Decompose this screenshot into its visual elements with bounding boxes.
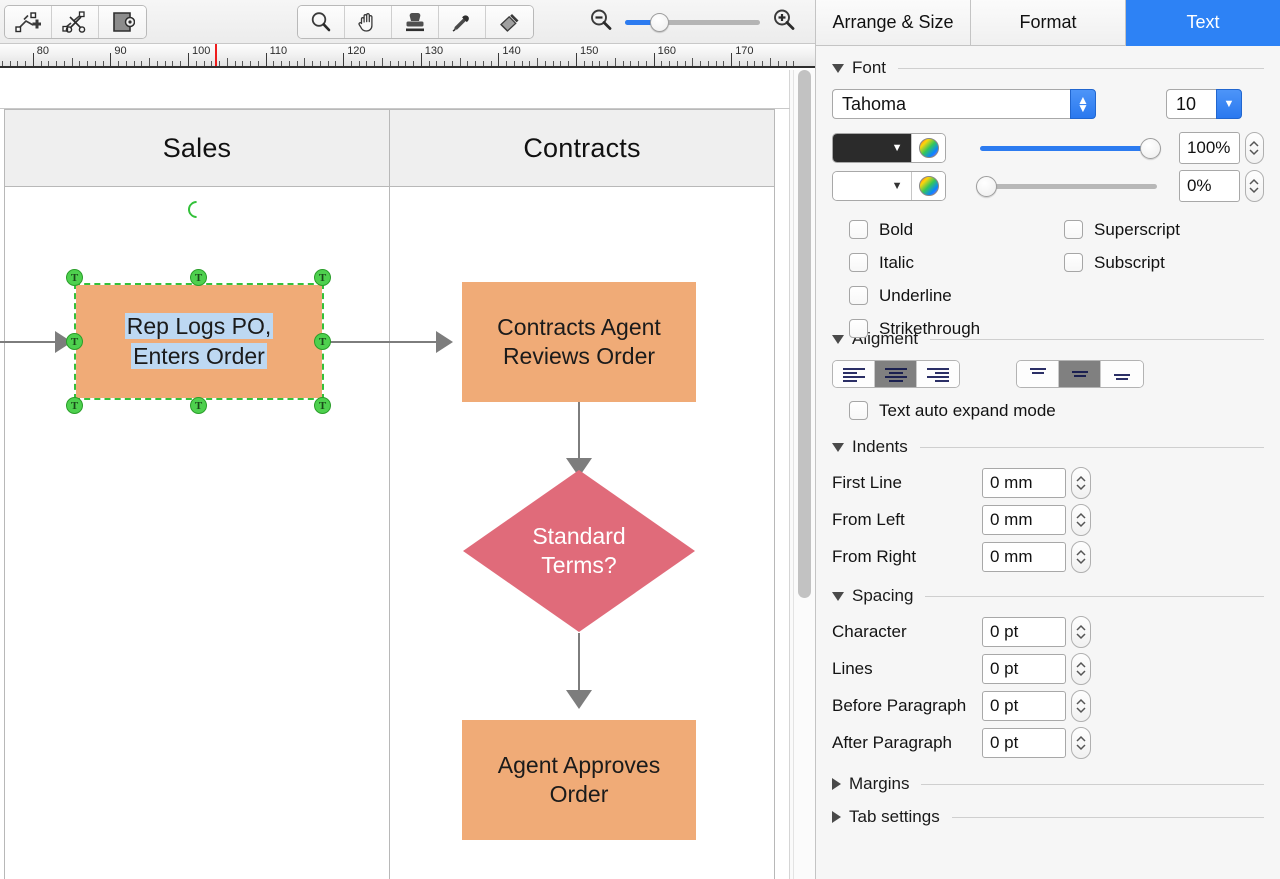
tab-format[interactable]: Format	[971, 0, 1126, 46]
align-right-icon[interactable]	[917, 361, 959, 387]
ruler-tick	[17, 61, 18, 66]
properties-panel: Arrange & Size Format Text Font Tahoma ▲…	[815, 0, 1280, 879]
section-title: Spacing	[852, 586, 913, 606]
fill-opacity-value[interactable]: 0%	[1179, 170, 1240, 202]
font-family-value: Tahoma	[832, 89, 1070, 119]
lane-header-sales[interactable]: Sales	[4, 109, 390, 187]
diagram-page[interactable]: Sales Contracts Rep Logs PO, Enters Orde…	[0, 70, 790, 879]
ruler-tick	[623, 61, 624, 66]
section-divider	[921, 784, 1264, 785]
ruler-tick	[273, 61, 274, 66]
ruler-tick	[266, 53, 267, 66]
font-size-select[interactable]: 10 ▼	[1166, 89, 1242, 119]
ruler-tick	[281, 61, 282, 66]
ruler-tick	[491, 61, 492, 66]
hand-icon[interactable]	[345, 6, 392, 38]
ruler-tick	[382, 58, 383, 66]
checkbox-box	[1064, 253, 1083, 272]
stamp-icon[interactable]	[392, 6, 439, 38]
ruler-tick	[204, 61, 205, 66]
ruler-tick	[475, 61, 476, 66]
chevron-down-icon	[832, 335, 844, 344]
node-label: Contracts Agent Reviews Order	[497, 313, 661, 372]
from-right-indent-stepper[interactable]	[1071, 541, 1091, 573]
fill-opacity-stepper[interactable]	[1245, 170, 1264, 202]
node-contracts-agent-reviews[interactable]: Contracts Agent Reviews Order	[462, 282, 696, 402]
ruler-tick	[700, 61, 701, 66]
ruler-tick	[638, 61, 639, 66]
app-window: 8090100110120130140150160170 Sales Contr…	[0, 0, 1280, 879]
tool-group	[297, 5, 534, 39]
ruler-tick	[235, 61, 236, 66]
field-row-first-line: First Line 0 mm	[816, 467, 1280, 499]
chevron-right-icon	[832, 778, 841, 790]
fill-color-picker[interactable]: ▼	[832, 171, 946, 201]
after-paragraph-stepper[interactable]	[1071, 727, 1091, 759]
chevron-right-icon	[832, 811, 841, 823]
magnifier-icon[interactable]	[298, 6, 345, 38]
ruler-tick	[716, 61, 717, 66]
checkbox-label: Underline	[879, 286, 952, 306]
ruler-tick	[196, 61, 197, 66]
ruler-tick	[312, 61, 313, 66]
shape-page-icon[interactable]	[99, 6, 146, 38]
zoom-slider[interactable]	[625, 20, 760, 25]
ruler-tick	[110, 53, 111, 66]
font-family-select[interactable]: Tahoma ▲▼	[832, 89, 1096, 119]
ruler-label: 90	[114, 45, 126, 57]
field-label: Lines	[832, 659, 982, 679]
ruler-tick	[335, 61, 336, 66]
ruler-label: 150	[580, 45, 598, 57]
checkbox-box	[1064, 220, 1083, 239]
from-right-indent-input[interactable]: 0 mm	[982, 542, 1066, 572]
field-label: From Left	[832, 510, 982, 530]
section-header-tab-settings[interactable]: Tab settings	[816, 804, 1280, 830]
section-divider	[925, 596, 1264, 597]
horizontal-ruler[interactable]: 8090100110120130140150160170	[0, 44, 815, 68]
field-label: After Paragraph	[832, 733, 982, 753]
checkbox-box	[849, 253, 868, 272]
ruler-tick	[343, 53, 344, 66]
ruler-tick	[258, 61, 259, 66]
ruler-tick	[545, 61, 546, 66]
ruler-tick	[33, 53, 34, 66]
vertical-align-group	[1016, 360, 1144, 388]
ruler-tick	[328, 61, 329, 66]
ruler-label: 140	[502, 45, 520, 57]
ruler-tick	[374, 61, 375, 66]
ruler-tick	[669, 61, 670, 66]
ruler-tick	[630, 61, 631, 66]
resize-handle-middle-left[interactable]: T	[66, 333, 83, 350]
ruler-tick	[483, 61, 484, 66]
align-center-icon[interactable]	[875, 361, 917, 387]
ruler-tick	[87, 61, 88, 66]
field-row-character: Character 0 pt	[816, 616, 1280, 648]
chevron-down-icon[interactable]: ▼	[1216, 89, 1242, 119]
ruler-tick	[708, 61, 709, 66]
chevron-down-icon	[832, 443, 844, 452]
section-title: Tab settings	[849, 807, 940, 827]
resize-handle-bottom-right[interactable]: T	[314, 397, 331, 414]
field-row-before-paragraph: Before Paragraph 0 pt	[816, 690, 1280, 722]
checkbox-label: Bold	[879, 220, 913, 240]
align-bottom-icon[interactable]	[1101, 361, 1143, 387]
node-label-line1: Standard	[532, 523, 625, 549]
lines-spacing-stepper[interactable]	[1071, 653, 1091, 685]
node-label-line1: Agent Approves	[498, 752, 660, 778]
chevron-down-icon	[832, 64, 844, 73]
connector-rep-to-agent[interactable]	[324, 341, 436, 343]
node-label: Standard Terms?	[462, 469, 696, 633]
ruler-tick	[41, 61, 42, 66]
text-color-wheel-icon[interactable]	[911, 134, 945, 162]
ruler-tick	[786, 61, 787, 66]
after-paragraph-input[interactable]: 0 pt	[982, 728, 1066, 758]
ruler-tick	[165, 61, 166, 66]
ruler-tick	[778, 61, 779, 66]
panel-tabs: Arrange & Size Format Text	[816, 0, 1280, 46]
field-label: From Right	[832, 547, 982, 567]
ruler-tick	[48, 61, 49, 66]
ruler-tick	[366, 61, 367, 66]
field-label: Before Paragraph	[832, 696, 982, 716]
canvas-vertical-scrollbar[interactable]	[793, 70, 815, 879]
ruler-label: 110	[270, 45, 288, 57]
tab-label: Format	[1019, 12, 1076, 33]
resize-handle-top-left[interactable]: T	[66, 269, 83, 286]
eyedropper-icon[interactable]	[439, 6, 486, 38]
ruler-tick	[56, 61, 57, 66]
zoom-out-icon[interactable]	[588, 7, 614, 38]
ruler-tick	[460, 58, 461, 66]
field-row-lines: Lines 0 pt	[816, 653, 1280, 685]
ruler-tick	[723, 61, 724, 66]
ruler-tick	[754, 61, 755, 66]
checkbox-bold[interactable]: Bold	[849, 216, 980, 243]
checkbox-italic[interactable]: Italic	[849, 249, 980, 276]
ruler-tick	[79, 61, 80, 66]
ruler-tick	[103, 61, 104, 66]
chevron-down-icon	[832, 592, 844, 601]
first-line-indent-stepper[interactable]	[1071, 467, 1091, 499]
fill-opacity-slider[interactable]	[980, 184, 1156, 189]
section-header-margins[interactable]: Margins	[816, 771, 1280, 797]
ruler-tick	[141, 61, 142, 66]
ruler-tick	[359, 61, 360, 66]
section-divider	[920, 447, 1264, 448]
field-row-after-paragraph: After Paragraph 0 pt	[816, 727, 1280, 759]
before-paragraph-input[interactable]: 0 pt	[982, 691, 1066, 721]
ruler-tick	[452, 61, 453, 66]
ruler-tick	[118, 61, 119, 66]
section-header-font[interactable]: Font	[816, 55, 1280, 81]
checkbox-box	[849, 401, 868, 420]
ruler-tick	[227, 58, 228, 66]
checkbox-box	[849, 319, 868, 338]
section-title: Margins	[849, 774, 909, 794]
ruler-tick	[64, 61, 65, 66]
fill-color-wheel-icon[interactable]	[911, 172, 945, 200]
section-divider	[898, 68, 1264, 69]
ruler-tick	[297, 61, 298, 66]
ruler-tick	[421, 53, 422, 66]
ruler-label: 120	[347, 45, 365, 57]
ruler-tick	[692, 58, 693, 66]
connector-decision-to-approve-arrow	[566, 690, 592, 709]
ruler-tick	[304, 58, 305, 66]
canvas[interactable]: Sales Contracts Rep Logs PO, Enters Orde…	[0, 70, 815, 879]
lane-title: Sales	[163, 133, 232, 164]
section-header-spacing[interactable]: Spacing	[816, 583, 1280, 609]
ruler-tick	[537, 58, 538, 66]
ruler-tick	[747, 61, 748, 66]
tab-arrange-size[interactable]: Arrange & Size	[816, 0, 971, 46]
align-top-icon[interactable]	[1017, 361, 1059, 387]
ruler-tick	[576, 53, 577, 66]
ruler-tick	[157, 61, 158, 66]
ruler-tick	[444, 61, 445, 66]
ruler-tick	[219, 61, 220, 66]
text-color-swatch[interactable]: ▼	[833, 134, 911, 162]
ruler-tick	[10, 61, 11, 66]
text-color-picker[interactable]: ▼	[832, 133, 946, 163]
ruler-label: 100	[192, 45, 210, 57]
ruler-tick	[390, 61, 391, 66]
field-row-from-right: From Right 0 mm	[816, 541, 1280, 573]
resize-handle-top-center[interactable]: T	[190, 269, 207, 286]
paintbrush-icon[interactable]	[486, 6, 533, 38]
ruler-tick	[72, 58, 73, 66]
ruler-tick	[351, 61, 352, 66]
section-divider	[930, 339, 1264, 340]
add-point-icon[interactable]	[5, 6, 52, 38]
tab-text[interactable]: Text	[1126, 0, 1280, 46]
zoom-control	[588, 6, 803, 38]
selection-outline	[74, 283, 324, 400]
resize-handle-top-right[interactable]: T	[314, 269, 331, 286]
section-title: Indents	[852, 437, 908, 457]
ruler-tick	[584, 61, 585, 66]
ruler-tick	[514, 61, 515, 66]
ruler-tick	[553, 61, 554, 66]
align-middle-icon[interactable]	[1059, 361, 1101, 387]
horizontal-align-group	[832, 360, 960, 388]
fill-color-swatch[interactable]: ▼	[833, 172, 911, 200]
ruler-label: 130	[425, 45, 443, 57]
checkbox-label: Italic	[879, 253, 914, 273]
edit-tool-group	[4, 5, 147, 39]
ruler-tick	[413, 61, 414, 66]
character-spacing-input[interactable]: 0 pt	[982, 617, 1066, 647]
checkbox-superscript[interactable]: Superscript	[1064, 216, 1180, 243]
ruler-tick	[289, 61, 290, 66]
ruler-tick	[149, 58, 150, 66]
font-family-stepper-icon[interactable]: ▲▼	[1070, 89, 1096, 119]
lane-title: Contracts	[523, 133, 640, 164]
resize-handle-middle-right[interactable]: T	[314, 333, 331, 350]
chevron-down-icon: ▼	[892, 180, 903, 192]
checkbox-label: Text auto expand mode	[879, 401, 1056, 421]
tab-label: Text	[1186, 12, 1219, 33]
checkbox-label: Subscript	[1094, 253, 1165, 273]
node-label-line2: Reviews Order	[503, 343, 655, 369]
ruler-tick	[320, 61, 321, 66]
ruler-tick	[211, 61, 212, 66]
lane-header-contracts[interactable]: Contracts	[389, 109, 775, 187]
field-label: Character	[832, 622, 982, 642]
node-standard-terms[interactable]: Standard Terms?	[462, 469, 696, 633]
field-label: First Line	[832, 473, 982, 493]
ruler-position-marker	[215, 44, 217, 66]
tab-label: Arrange & Size	[832, 12, 953, 33]
from-left-indent-stepper[interactable]	[1071, 504, 1091, 536]
field-row-from-left: From Left 0 mm	[816, 504, 1280, 536]
ruler-tick	[615, 58, 616, 66]
ruler-tick	[762, 61, 763, 66]
ruler-tick	[522, 61, 523, 66]
resize-handle-bottom-center[interactable]: T	[190, 397, 207, 414]
ruler-tick	[568, 61, 569, 66]
checkbox-box	[849, 220, 868, 239]
ruler-tick	[770, 58, 771, 66]
ruler-tick	[134, 61, 135, 66]
node-label-line2: Terms?	[541, 552, 616, 578]
zoom-in-icon[interactable]	[771, 7, 797, 38]
ruler-tick	[685, 61, 686, 66]
ruler-tick	[677, 61, 678, 66]
checkbox-underline[interactable]: Underline	[849, 282, 980, 309]
node-label-line1: Contracts Agent	[497, 314, 661, 340]
align-left-icon[interactable]	[833, 361, 875, 387]
checkbox-text-auto-expand[interactable]: Text auto expand mode	[849, 397, 1056, 424]
ruler-tick	[739, 61, 740, 66]
ruler-tick	[599, 61, 600, 66]
checkbox-subscript[interactable]: Subscript	[1064, 249, 1180, 276]
ruler-tick	[793, 61, 794, 66]
chevron-down-icon: ▼	[892, 142, 903, 154]
node-label: Agent Approves Order	[498, 751, 660, 810]
ruler-tick	[2, 61, 3, 66]
fill-opacity-knob[interactable]	[976, 176, 997, 197]
ruler-tick	[661, 61, 662, 66]
ruler-tick	[506, 61, 507, 66]
from-left-indent-input[interactable]: 0 mm	[982, 505, 1066, 535]
ruler-tick	[592, 61, 593, 66]
ruler-tick	[172, 61, 173, 66]
ruler-tick	[242, 61, 243, 66]
ruler-tick	[126, 61, 127, 66]
ruler-label: 80	[37, 45, 49, 57]
toolbar	[0, 0, 815, 44]
first-line-indent-input[interactable]: 0 mm	[982, 468, 1066, 498]
section-title: Font	[852, 58, 886, 78]
ruler-tick	[498, 53, 499, 66]
text-opacity-value[interactable]: 100%	[1179, 132, 1240, 164]
node-label-line2: Order	[550, 781, 609, 807]
ruler-tick	[429, 61, 430, 66]
ruler-tick	[731, 53, 732, 66]
ruler-tick	[646, 61, 647, 66]
before-paragraph-stepper[interactable]	[1071, 690, 1091, 722]
text-opacity-knob[interactable]	[1140, 138, 1161, 159]
ruler-tick	[436, 61, 437, 66]
connector-in[interactable]	[0, 341, 58, 343]
ruler-tick	[25, 61, 26, 66]
section-header-indents[interactable]: Indents	[816, 434, 1280, 460]
ruler-tick	[529, 61, 530, 66]
ruler-tick	[250, 61, 251, 66]
ruler-label: 170	[735, 45, 753, 57]
ruler-tick	[560, 61, 561, 66]
ruler-label: 160	[658, 45, 676, 57]
section-divider	[952, 817, 1264, 818]
character-spacing-stepper[interactable]	[1071, 616, 1091, 648]
text-opacity-slider[interactable]	[980, 146, 1156, 151]
scrollbar-thumb[interactable]	[798, 70, 811, 598]
node-agent-approves[interactable]: Agent Approves Order	[462, 720, 696, 840]
text-opacity-stepper[interactable]	[1245, 132, 1264, 164]
ruler-tick	[467, 61, 468, 66]
connector-rep-to-agent-arrow	[436, 331, 453, 353]
ruler-tick	[654, 53, 655, 66]
ruler-tick	[398, 61, 399, 66]
ruler-tick	[405, 61, 406, 66]
checkbox-box	[849, 286, 868, 305]
ruler-tick	[95, 61, 96, 66]
checkbox-label: Strikethrough	[879, 319, 980, 339]
ruler-tick	[180, 61, 181, 66]
ruler-tick	[607, 61, 608, 66]
lines-spacing-input[interactable]: 0 pt	[982, 654, 1066, 684]
ruler-tick	[188, 53, 189, 66]
checkbox-label: Superscript	[1094, 220, 1180, 240]
checkbox-strikethrough[interactable]: Strikethrough	[849, 315, 980, 342]
cut-line-icon[interactable]	[52, 6, 99, 38]
resize-handle-bottom-left[interactable]: T	[66, 397, 83, 414]
font-size-value: 10	[1166, 89, 1216, 119]
zoom-slider-knob[interactable]	[650, 13, 669, 32]
